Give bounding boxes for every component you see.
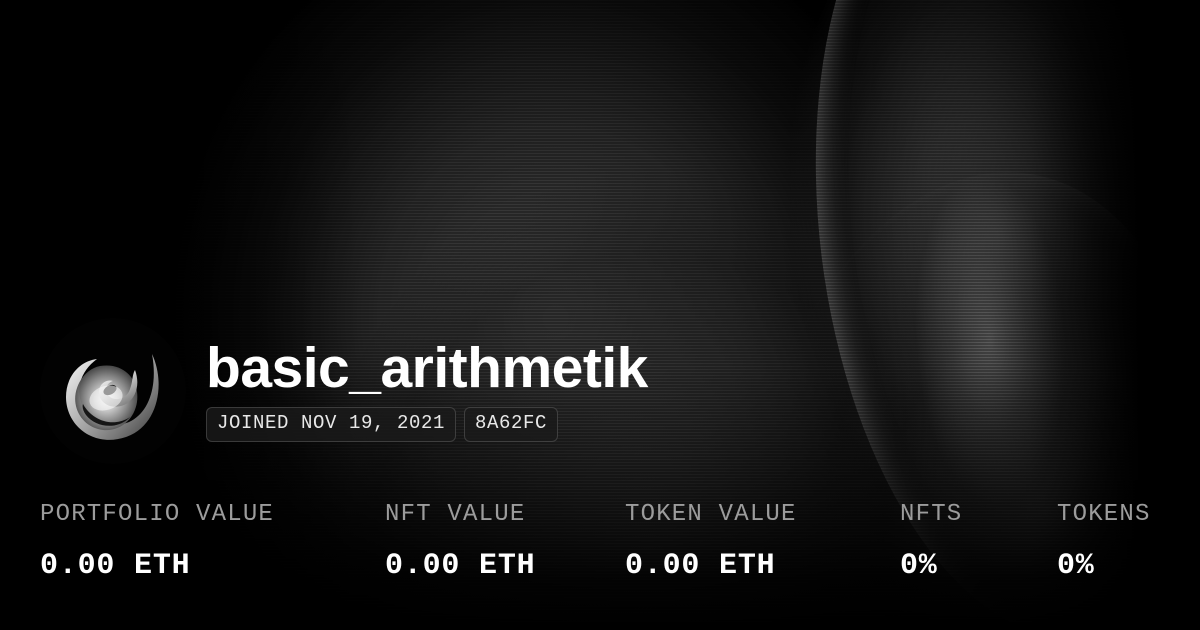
username: basic_arithmetik	[206, 340, 648, 397]
stat-label: NFT VALUE	[385, 502, 535, 528]
stat-value: 0%	[900, 550, 962, 583]
profile-card: basic_arithmetik JOINED NOV 19, 2021 8A6…	[0, 0, 1200, 630]
avatar[interactable]	[40, 318, 186, 464]
joined-date-badge: JOINED NOV 19, 2021	[206, 407, 456, 442]
stat-value: 0.00 ETH	[40, 550, 274, 583]
stat-token-value: TOKEN VALUE 0.00 ETH	[625, 502, 797, 583]
spiral-crescent-avatar-icon	[40, 318, 186, 464]
wallet-hex-badge[interactable]: 8A62FC	[464, 407, 558, 442]
stat-portfolio-value: PORTFOLIO VALUE 0.00 ETH	[40, 502, 274, 583]
card-content: basic_arithmetik JOINED NOV 19, 2021 8A6…	[0, 0, 1200, 630]
stat-label: PORTFOLIO VALUE	[40, 502, 274, 528]
identity-text: basic_arithmetik JOINED NOV 19, 2021 8A6…	[206, 340, 648, 442]
stat-nft-value: NFT VALUE 0.00 ETH	[385, 502, 535, 583]
stat-value: 0.00 ETH	[385, 550, 535, 583]
stat-label: TOKEN VALUE	[625, 502, 797, 528]
stat-label: TOKENS	[1057, 502, 1151, 528]
identity-block: basic_arithmetik JOINED NOV 19, 2021 8A6…	[40, 318, 648, 464]
stat-nfts-percent: NFTS 0%	[900, 502, 962, 583]
stat-label: NFTS	[900, 502, 962, 528]
stat-tokens-percent: TOKENS 0%	[1057, 502, 1151, 583]
stat-value: 0%	[1057, 550, 1151, 583]
stats-row: PORTFOLIO VALUE 0.00 ETH NFT VALUE 0.00 …	[40, 502, 1160, 602]
stat-value: 0.00 ETH	[625, 550, 797, 583]
badge-row: JOINED NOV 19, 2021 8A62FC	[206, 407, 648, 442]
